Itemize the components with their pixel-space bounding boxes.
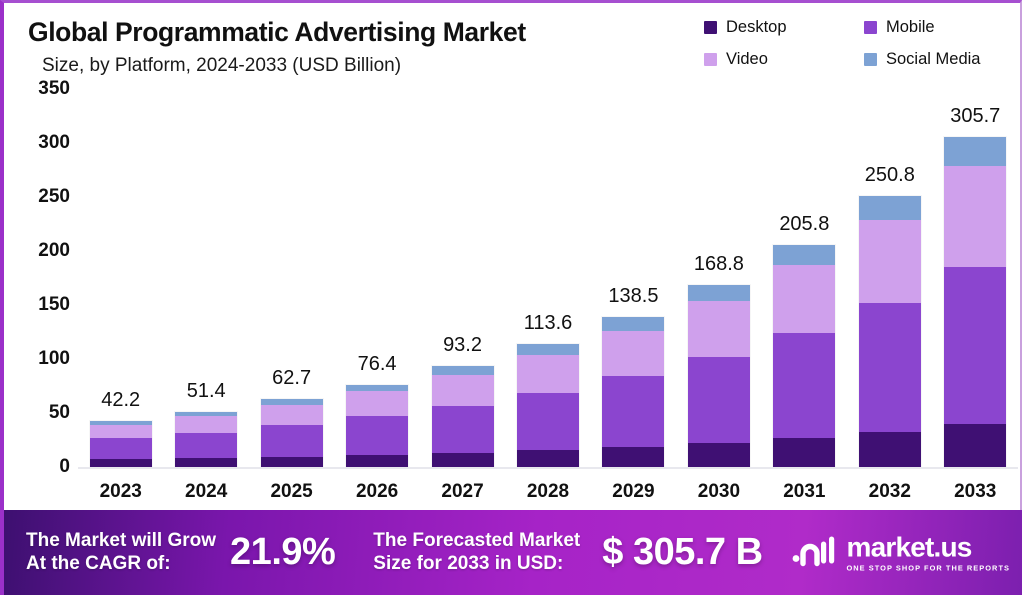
stacked-bar[interactable] xyxy=(517,344,579,467)
bar-segment-video[interactable] xyxy=(90,425,152,439)
x-axis-tick: 2029 xyxy=(591,481,675,503)
logo-name: market.us xyxy=(846,533,1010,561)
stacked-bar[interactable] xyxy=(90,421,152,467)
cagr-value: 21.9% xyxy=(230,531,335,574)
bar-group[interactable]: 62.7 xyxy=(250,89,334,467)
bar-segment-video[interactable] xyxy=(602,331,664,377)
chart-legend: Desktop Mobile Video Social Media xyxy=(704,11,1022,75)
bar-group[interactable]: 305.7 xyxy=(933,89,1017,467)
cagr-caption-line2: At the CAGR of: xyxy=(26,553,216,575)
bar-segment-mobile[interactable] xyxy=(261,425,323,457)
bar-group[interactable]: 250.8 xyxy=(848,89,932,467)
bar-segment-video[interactable] xyxy=(346,391,408,416)
x-axis-tick: 2028 xyxy=(506,481,590,503)
bar-segment-mobile[interactable] xyxy=(944,267,1006,424)
bar-segment-desktop[interactable] xyxy=(773,438,835,467)
stacked-bar[interactable] xyxy=(944,137,1006,467)
legend-label: Social Media xyxy=(886,51,980,68)
bar-segment-mobile[interactable] xyxy=(773,333,835,438)
plot-area: 42.251.462.776.493.2113.6138.5168.8205.8… xyxy=(78,89,1018,469)
x-axis-baseline xyxy=(78,467,1018,469)
legend-swatch-icon xyxy=(704,21,717,34)
bar-segment-video[interactable] xyxy=(432,375,494,406)
stacked-bar-chart: 050100150200250300350 42.251.462.776.493… xyxy=(4,89,1022,513)
bar-total-label: 93.2 xyxy=(443,334,482,357)
bar-segment-video[interactable] xyxy=(773,265,835,333)
stacked-bar[interactable] xyxy=(432,366,494,467)
bar-segment-mobile[interactable] xyxy=(432,406,494,453)
bar-group[interactable]: 42.2 xyxy=(79,89,163,467)
stacked-bar[interactable] xyxy=(859,196,921,467)
legend-label: Video xyxy=(726,51,768,68)
x-axis-tick: 2031 xyxy=(762,481,846,503)
legend-label: Desktop xyxy=(726,19,787,36)
bar-total-label: 168.8 xyxy=(694,253,744,276)
bar-segment-mobile[interactable] xyxy=(859,303,921,432)
cagr-block: The Market will Grow At the CAGR of: 21.… xyxy=(26,510,335,595)
stacked-bar[interactable] xyxy=(602,317,664,467)
cagr-caption: The Market will Grow At the CAGR of: xyxy=(26,530,216,575)
stacked-bar[interactable] xyxy=(773,245,835,467)
bar-total-label: 250.8 xyxy=(865,164,915,187)
legend-label: Mobile xyxy=(886,19,935,36)
bar-group[interactable]: 93.2 xyxy=(421,89,505,467)
forecast-caption-line2: Size for 2033 in USD: xyxy=(373,553,580,575)
market-us-logo[interactable]: market.us ONE STOP SHOP FOR THE REPORTS xyxy=(792,533,1010,572)
bar-segment-mobile[interactable] xyxy=(90,438,152,459)
bar-segment-mobile[interactable] xyxy=(602,376,664,447)
bar-segment-mobile[interactable] xyxy=(346,416,408,455)
bar-total-label: 76.4 xyxy=(358,353,397,376)
bar-segment-desktop[interactable] xyxy=(175,458,237,467)
legend-item-video[interactable]: Video xyxy=(704,43,864,75)
signal-bars-icon xyxy=(792,533,838,572)
legend-item-desktop[interactable]: Desktop xyxy=(704,11,864,43)
bar-total-label: 305.7 xyxy=(950,105,1000,128)
y-axis-tick: 350 xyxy=(38,78,70,100)
bar-segment-social-media[interactable] xyxy=(346,385,408,392)
bar-total-label: 42.2 xyxy=(101,389,140,412)
y-axis-tick: 200 xyxy=(38,240,70,262)
bar-segment-desktop[interactable] xyxy=(346,455,408,467)
bar-series-container: 42.251.462.776.493.2113.6138.5168.8205.8… xyxy=(78,89,1018,467)
bar-segment-video[interactable] xyxy=(944,166,1006,268)
bar-segment-desktop[interactable] xyxy=(90,459,152,467)
bar-group[interactable]: 205.8 xyxy=(762,89,846,467)
bar-segment-desktop[interactable] xyxy=(517,450,579,467)
cagr-caption-line1: The Market will Grow xyxy=(26,530,216,552)
bar-segment-desktop[interactable] xyxy=(944,424,1006,467)
bar-total-label: 113.6 xyxy=(524,312,573,335)
logo-tagline: ONE STOP SHOP FOR THE REPORTS xyxy=(846,564,1010,571)
bar-segment-social-media[interactable] xyxy=(688,285,750,301)
y-axis-tick: 300 xyxy=(38,132,70,154)
bar-segment-video[interactable] xyxy=(688,301,750,357)
logo-text: market.us ONE STOP SHOP FOR THE REPORTS xyxy=(846,533,1010,571)
stacked-bar[interactable] xyxy=(688,285,750,467)
x-axis-tick: 2030 xyxy=(677,481,761,503)
page-subtitle: Size, by Platform, 2024-2033 (USD Billio… xyxy=(42,55,401,77)
legend-swatch-icon xyxy=(864,21,877,34)
bar-segment-video[interactable] xyxy=(859,220,921,303)
stacked-bar[interactable] xyxy=(261,399,323,467)
forecast-caption-line1: The Forecasted Market xyxy=(373,530,580,552)
infographic-root: Global Programmatic Advertising Market S… xyxy=(0,0,1022,595)
forecast-block: The Forecasted Market Size for 2033 in U… xyxy=(373,510,762,595)
y-axis-tick: 50 xyxy=(49,402,70,424)
bar-segment-social-media[interactable] xyxy=(432,366,494,375)
x-axis-tick: 2025 xyxy=(250,481,334,503)
bar-segment-social-media[interactable] xyxy=(773,245,835,265)
bar-segment-social-media[interactable] xyxy=(517,344,579,355)
bar-total-label: 205.8 xyxy=(779,213,829,236)
bar-group[interactable]: 168.8 xyxy=(677,89,761,467)
legend-swatch-icon xyxy=(864,53,877,66)
bar-segment-desktop[interactable] xyxy=(688,443,750,467)
y-axis-tick: 250 xyxy=(38,186,70,208)
bar-segment-social-media[interactable] xyxy=(944,137,1006,166)
bar-segment-mobile[interactable] xyxy=(175,433,237,459)
x-axis-tick: 2023 xyxy=(79,481,163,503)
x-axis: 2023202420252026202720282029203020312032… xyxy=(78,471,1018,513)
bar-total-label: 62.7 xyxy=(272,367,311,390)
forecast-value: $ 305.7 B xyxy=(602,531,762,574)
y-axis-tick: 0 xyxy=(59,456,70,478)
bar-segment-mobile[interactable] xyxy=(688,357,750,443)
bar-segment-video[interactable] xyxy=(175,416,237,433)
bar-segment-desktop[interactable] xyxy=(432,453,494,467)
bar-segment-desktop[interactable] xyxy=(261,457,323,467)
x-axis-tick: 2033 xyxy=(933,481,1017,503)
page-title: Global Programmatic Advertising Market xyxy=(28,17,526,48)
bar-group[interactable]: 51.4 xyxy=(164,89,248,467)
y-axis-tick: 150 xyxy=(38,294,70,316)
y-axis-tick: 100 xyxy=(38,348,70,370)
x-axis-tick: 2027 xyxy=(421,481,505,503)
legend-swatch-icon xyxy=(704,53,717,66)
footer-banner: The Market will Grow At the CAGR of: 21.… xyxy=(4,510,1022,595)
stacked-bar[interactable] xyxy=(346,385,408,468)
legend-item-social-media[interactable]: Social Media xyxy=(864,43,1022,75)
y-axis: 050100150200250300350 xyxy=(4,89,78,469)
bar-segment-desktop[interactable] xyxy=(859,432,921,467)
forecast-caption: The Forecasted Market Size for 2033 in U… xyxy=(373,530,580,575)
x-axis-tick: 2024 xyxy=(164,481,248,503)
bar-segment-social-media[interactable] xyxy=(602,317,664,330)
bar-group[interactable]: 113.6 xyxy=(506,89,590,467)
bar-total-label: 51.4 xyxy=(187,380,226,403)
bar-segment-social-media[interactable] xyxy=(859,196,921,220)
x-axis-tick: 2026 xyxy=(335,481,419,503)
x-axis-tick: 2032 xyxy=(848,481,932,503)
legend-item-mobile[interactable]: Mobile xyxy=(864,11,1022,43)
bar-segment-mobile[interactable] xyxy=(517,393,579,451)
bar-segment-desktop[interactable] xyxy=(602,447,664,467)
bar-group[interactable]: 138.5 xyxy=(591,89,675,467)
bar-segment-video[interactable] xyxy=(517,355,579,393)
stacked-bar[interactable] xyxy=(175,412,237,468)
bar-group[interactable]: 76.4 xyxy=(335,89,419,467)
bar-total-label: 138.5 xyxy=(608,285,658,308)
bar-segment-video[interactable] xyxy=(261,405,323,426)
